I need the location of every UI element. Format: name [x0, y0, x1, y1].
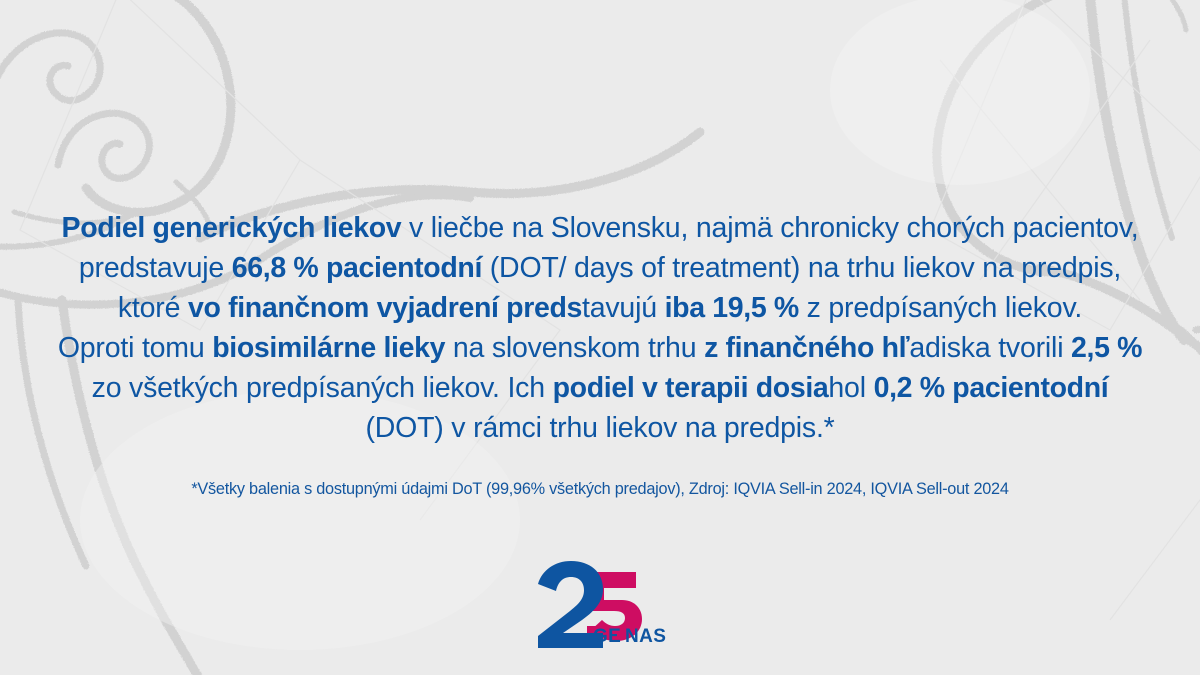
run-regular-tvorili: tvorili — [991, 332, 1072, 364]
run-bold-therapy-share: podiel v terapii dosia — [553, 372, 829, 404]
slide-canvas: Podiel generických liekov v liečbe na Sl… — [0, 0, 1200, 675]
run-regular-closing: (DOT) v rámci trhu liekov na predpis.* — [365, 412, 834, 444]
statement-block: Podiel generických liekov v liečbe na Sl… — [50, 208, 1150, 448]
logo-wordmark-dash — [617, 634, 625, 638]
run-bold-biosimilar-dot-percent: 0,2 % pacientodní — [874, 372, 1109, 404]
run-bold-biosimilar-title: biosimilárne lieky — [212, 332, 445, 364]
run-bold-biosimilar-financial-percent: 2,5 % — [1071, 332, 1142, 364]
logo-wordmark-nas: NAS — [625, 626, 666, 647]
footnote-source: *Všetky balenia s dostupnými údajmi DoT … — [50, 478, 1150, 500]
run-regular-prescribed: z predpísaných liekov. — [799, 292, 1082, 324]
run-regular-slovak-market: na slovenskom trhu — [445, 332, 704, 364]
run-bold-generics-title: Podiel generických liekov — [62, 212, 402, 244]
run-regular-of-all-prescribed: zo všetkých predpísaných liekov. Ich — [92, 372, 553, 404]
run-bold-financial-view: z finančného hľ — [704, 332, 909, 364]
run-regular-hol: hol — [828, 372, 873, 404]
run-regular-oproti: Oproti tomu — [58, 332, 212, 364]
run-regular-tavuju: tavujú — [582, 292, 665, 324]
run-regular-adiska: adiska — [909, 332, 990, 364]
logo-wordmark: GE NAS — [593, 626, 666, 647]
paragraph-biosimilars: Oproti tomu biosimilárne lieky na sloven… — [50, 328, 1150, 448]
run-bold-dot-percent: 66,8 % pacientodní — [232, 252, 482, 284]
run-bold-iba-percent: iba 19,5 % — [665, 292, 799, 324]
genas-anniversary-logo: GE NAS — [530, 558, 670, 650]
run-bold-financial: vo finančnom vyjadrení preds — [188, 292, 582, 324]
paragraph-generics: Podiel generických liekov v liečbe na Sl… — [50, 208, 1150, 328]
